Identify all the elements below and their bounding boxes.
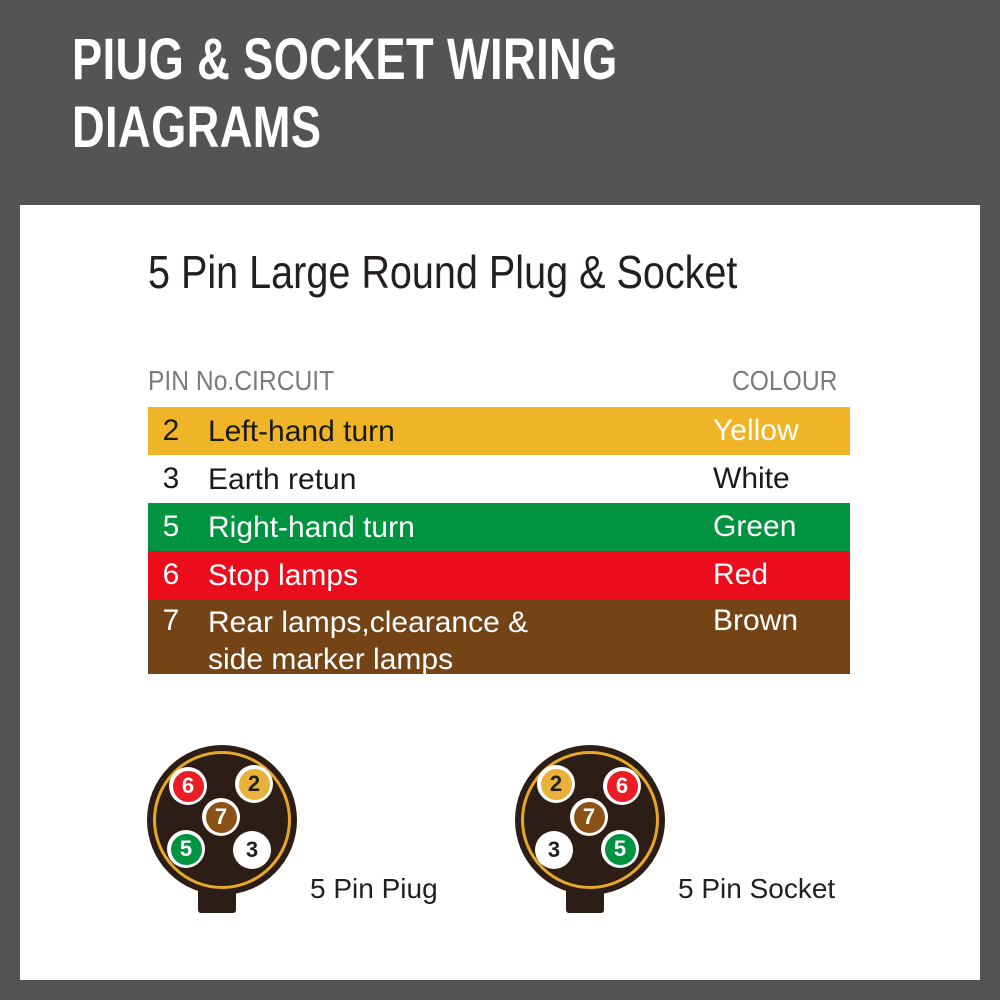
pin-number-label: 3: [237, 835, 268, 866]
table-row: 6Stop lampsRed: [148, 551, 850, 599]
cell-pin-number: 3: [148, 462, 194, 496]
table-row: 5Right-hand turnGreen: [148, 503, 850, 551]
pin-number-label: 7: [206, 802, 237, 833]
pin-terminal-6[interactable]: 6: [169, 767, 207, 805]
pin-number-label: 5: [605, 834, 636, 865]
connector-label-socket: 5 Pin Socket: [678, 873, 835, 905]
connector-plug: 627535 Pin Piug: [140, 745, 440, 960]
pin-number-label: 7: [574, 802, 605, 833]
cell-pin-number: 2: [148, 414, 194, 448]
page-header: PIUG & SOCKET WIRING DIAGRAMS: [72, 26, 812, 162]
pin-terminal-7[interactable]: 7: [202, 798, 240, 836]
pin-number-label: 6: [173, 771, 204, 802]
connector-body: 62753: [147, 745, 297, 895]
connector-socket: 267355 Pin Socket: [508, 745, 808, 960]
pin-terminal-3[interactable]: 3: [535, 831, 573, 869]
table-header-row: PIN No.CIRCUIT COLOUR: [148, 365, 850, 407]
pin-number-label: 6: [607, 771, 638, 802]
table-row: 7Rear lamps,clearance & side marker lamp…: [148, 599, 850, 674]
section-title: 5 Pin Large Round Plug & Socket: [148, 247, 737, 297]
pin-number-label: 3: [539, 835, 570, 866]
connector-label-plug: 5 Pin Piug: [310, 873, 438, 905]
cell-colour: Yellow: [713, 414, 799, 448]
cell-colour: Green: [713, 510, 796, 544]
cell-pin-number: 7: [148, 599, 194, 638]
page-title-line-1: PIUG & SOCKET WIRING: [72, 26, 649, 94]
cell-pin-number: 5: [148, 510, 194, 544]
column-header-circuit: PIN No.CIRCUIT: [148, 365, 334, 397]
table-row: 2Left-hand turnYellow: [148, 407, 850, 455]
content-panel: 5 Pin Large Round Plug & Socket PIN No.C…: [20, 205, 980, 980]
cell-colour: White: [713, 462, 790, 496]
pin-terminal-7[interactable]: 7: [570, 798, 608, 836]
cell-colour: Brown: [713, 599, 798, 638]
connector-diagrams: 627535 Pin Piug267355 Pin Socket: [20, 745, 980, 980]
page-title-line-2: DIAGRAMS: [72, 94, 649, 162]
pin-terminal-5[interactable]: 5: [167, 830, 205, 868]
cell-pin-number: 6: [148, 558, 194, 592]
table-row: 3Earth retunWhite: [148, 455, 850, 503]
pin-terminal-2[interactable]: 2: [537, 765, 575, 803]
cell-colour: Red: [713, 558, 768, 592]
pin-terminal-5[interactable]: 5: [601, 830, 639, 868]
pin-number-label: 2: [541, 769, 572, 800]
pin-terminal-6[interactable]: 6: [603, 767, 641, 805]
connector-body: 26735: [515, 745, 665, 895]
pin-terminal-3[interactable]: 3: [233, 831, 271, 869]
wiring-table: PIN No.CIRCUIT COLOUR 2Left-hand turnYel…: [148, 365, 850, 674]
table-body: 2Left-hand turnYellow3Earth retunWhite5R…: [148, 407, 850, 674]
pin-number-label: 5: [171, 834, 202, 865]
pin-terminal-2[interactable]: 2: [235, 765, 273, 803]
pin-number-label: 2: [239, 769, 270, 800]
column-header-colour: COLOUR: [732, 365, 837, 397]
